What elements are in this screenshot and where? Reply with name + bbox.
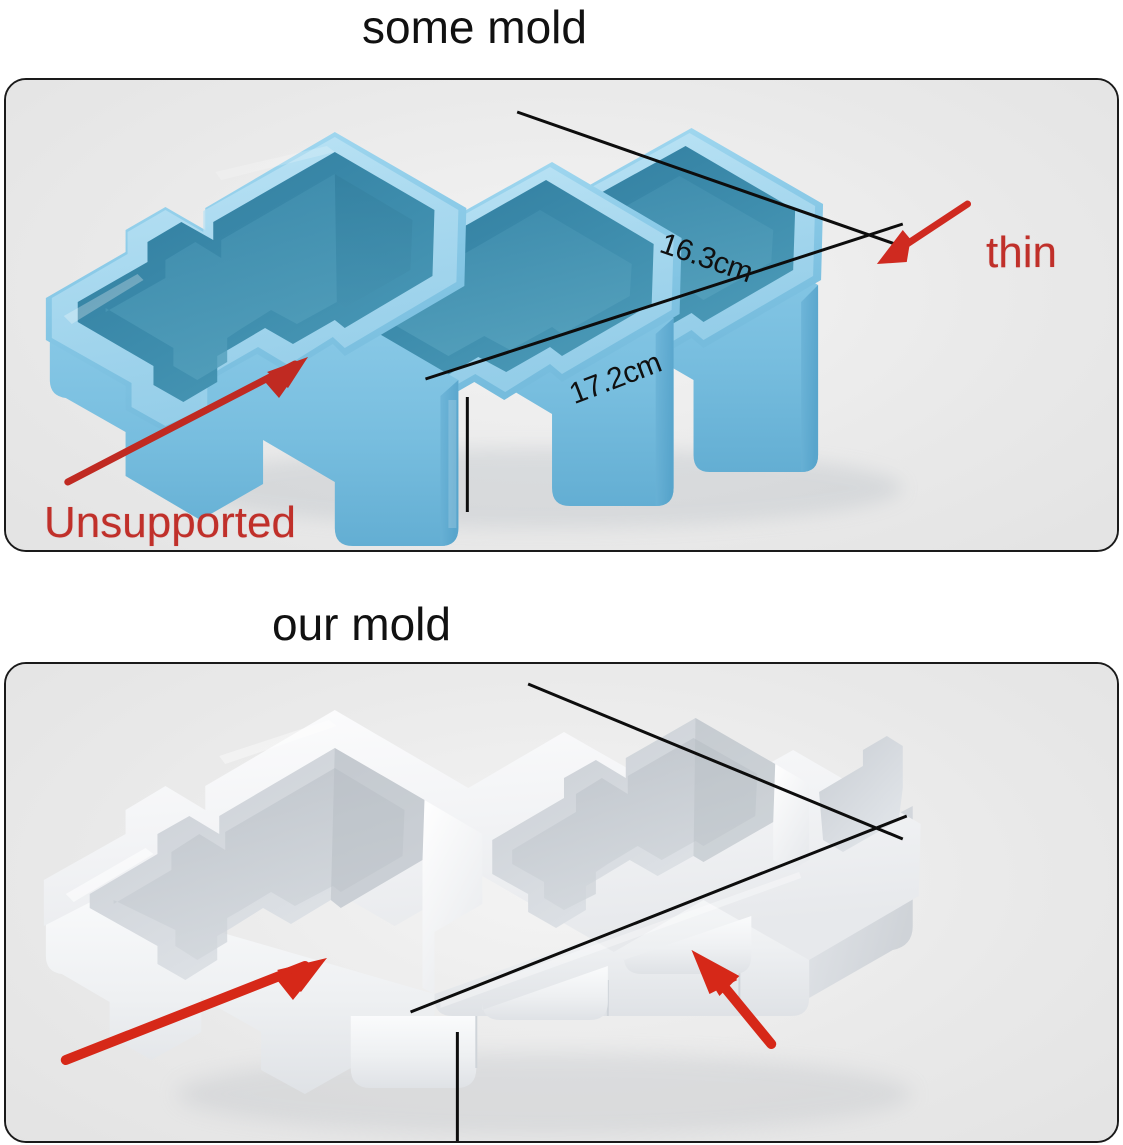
- blue-mold-svg: [6, 80, 1117, 550]
- white-divider-rib-1: [423, 800, 483, 994]
- comparison-panel-our-mold: Extra Support Thick 18.4cm 17.8cm 4.5cm: [4, 662, 1119, 1143]
- arrow-thin: [877, 204, 968, 264]
- annotation-unsupported: Unsupported: [44, 498, 296, 548]
- annotation-thin: thin: [986, 228, 1057, 278]
- white-mold-svg: [6, 664, 1117, 1141]
- mold-illustration-white: [6, 664, 1117, 1141]
- section-title-some-mold: some mold: [0, 0, 1036, 54]
- section-title-our-mold: our mold: [0, 597, 923, 651]
- mold-illustration-blue: [6, 80, 1117, 550]
- comparison-panel-some-mold: thin Unsupported 16.3cm 17.2cm 3.5cm: [4, 78, 1119, 552]
